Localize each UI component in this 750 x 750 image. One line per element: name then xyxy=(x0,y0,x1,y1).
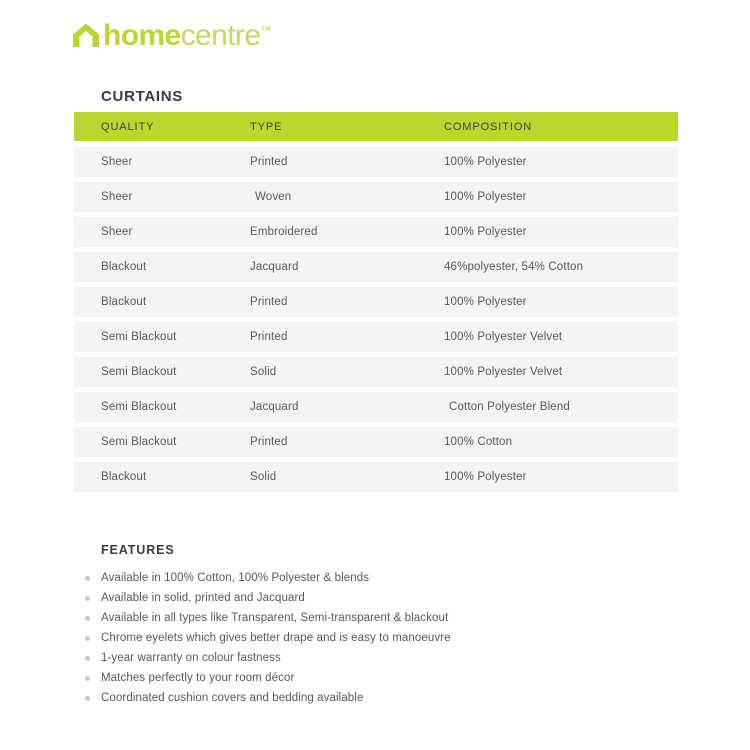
cell-quality: Blackout xyxy=(74,471,250,483)
cell-composition: 100% Polyester Velvet xyxy=(444,366,678,378)
cell-quality: Sheer xyxy=(74,226,250,238)
cell-quality: Semi Blackout xyxy=(74,366,250,378)
list-item: Available in all types like Transparent,… xyxy=(101,608,661,628)
table-row: Blackout Jacquard 46%polyester, 54% Cott… xyxy=(74,252,678,282)
cell-quality: Blackout xyxy=(74,261,250,273)
cell-composition: 100% Polyester xyxy=(444,156,678,168)
cell-type: Jacquard xyxy=(250,261,444,273)
cell-composition: 100% Polyester xyxy=(444,191,678,203)
table-row: Blackout Printed 100% Polyester xyxy=(74,287,678,317)
cell-type: Printed xyxy=(250,331,444,343)
table-row: Sheer Embroidered 100% Polyester xyxy=(74,217,678,247)
cell-quality: Semi Blackout xyxy=(74,436,250,448)
house-roof-icon xyxy=(72,22,100,48)
list-item: Chrome eyelets which gives better drape … xyxy=(101,628,661,648)
bullet-icon xyxy=(85,636,90,641)
bullet-icon xyxy=(85,596,90,601)
cell-quality: Blackout xyxy=(74,296,250,308)
brand-name-light: centre xyxy=(181,19,261,52)
cell-type: Solid xyxy=(250,471,444,483)
table-row: Semi Blackout Solid 100% Polyester Velve… xyxy=(74,357,678,387)
cell-composition: 100% Polyester xyxy=(444,296,678,308)
cell-type: Printed xyxy=(250,296,444,308)
cell-type: Printed xyxy=(250,156,444,168)
feature-text: Available in 100% Cotton, 100% Polyester… xyxy=(101,572,369,584)
table-row: Sheer Woven 100% Polyester xyxy=(74,182,678,212)
brand-logo: homecentre™ xyxy=(72,14,271,56)
cell-type: Woven xyxy=(250,191,444,203)
cell-composition: 100% Polyester xyxy=(444,471,678,483)
trademark-symbol: ™ xyxy=(260,25,271,37)
bullet-icon xyxy=(85,696,90,701)
cell-quality: Semi Blackout xyxy=(74,331,250,343)
bullet-icon xyxy=(85,676,90,681)
table-row: Blackout Solid 100% Polyester xyxy=(74,462,678,492)
brand-name-bold: home xyxy=(103,19,181,52)
bullet-icon xyxy=(85,616,90,621)
brand-wordmark: homecentre™ xyxy=(103,21,271,51)
bullet-icon xyxy=(85,656,90,661)
column-header-quality: QUALITY xyxy=(74,121,250,133)
cell-type: Jacquard xyxy=(250,401,444,413)
feature-text: Available in all types like Transparent,… xyxy=(101,612,448,624)
feature-text: 1-year warranty on colour fastness xyxy=(101,652,281,664)
features-title: FEATURES xyxy=(101,543,661,557)
cell-composition: Cotton Polyester Blend xyxy=(444,401,678,413)
feature-text: Coordinated cushion covers and bedding a… xyxy=(101,692,363,704)
list-item: Coordinated cushion covers and bedding a… xyxy=(101,688,661,708)
cell-composition: 100% Polyester xyxy=(444,226,678,238)
table-row: Semi Blackout Printed 100% Cotton xyxy=(74,427,678,457)
bullet-icon xyxy=(85,576,90,581)
page-title: CURTAINS xyxy=(101,88,183,105)
cell-type: Embroidered xyxy=(250,226,444,238)
features-section: FEATURES Available in 100% Cotton, 100% … xyxy=(101,543,661,708)
table-row: Semi Blackout Jacquard Cotton Polyester … xyxy=(74,392,678,422)
list-item: Available in solid, printed and Jacquard xyxy=(101,588,661,608)
column-header-composition: COMPOSITION xyxy=(444,121,678,133)
column-header-type: TYPE xyxy=(250,121,444,133)
cell-type: Printed xyxy=(250,436,444,448)
list-item: Matches perfectly to your room décor xyxy=(101,668,661,688)
cell-type: Solid xyxy=(250,366,444,378)
cell-quality: Sheer xyxy=(74,191,250,203)
cell-composition: 100% Polyester Velvet xyxy=(444,331,678,343)
cell-composition: 100% Cotton xyxy=(444,436,678,448)
list-item: 1-year warranty on colour fastness xyxy=(101,648,661,668)
list-item: Available in 100% Cotton, 100% Polyester… xyxy=(101,568,661,588)
cell-quality: Semi Blackout xyxy=(74,401,250,413)
curtains-table: QUALITY TYPE COMPOSITION Sheer Printed 1… xyxy=(74,112,678,497)
table-row: Sheer Printed 100% Polyester xyxy=(74,147,678,177)
feature-text: Matches perfectly to your room décor xyxy=(101,672,294,684)
table-row: Semi Blackout Printed 100% Polyester Vel… xyxy=(74,322,678,352)
table-header-row: QUALITY TYPE COMPOSITION xyxy=(74,112,678,141)
feature-text: Available in solid, printed and Jacquard xyxy=(101,592,305,604)
cell-quality: Sheer xyxy=(74,156,250,168)
feature-text: Chrome eyelets which gives better drape … xyxy=(101,632,451,644)
cell-composition: 46%polyester, 54% Cotton xyxy=(444,261,678,273)
